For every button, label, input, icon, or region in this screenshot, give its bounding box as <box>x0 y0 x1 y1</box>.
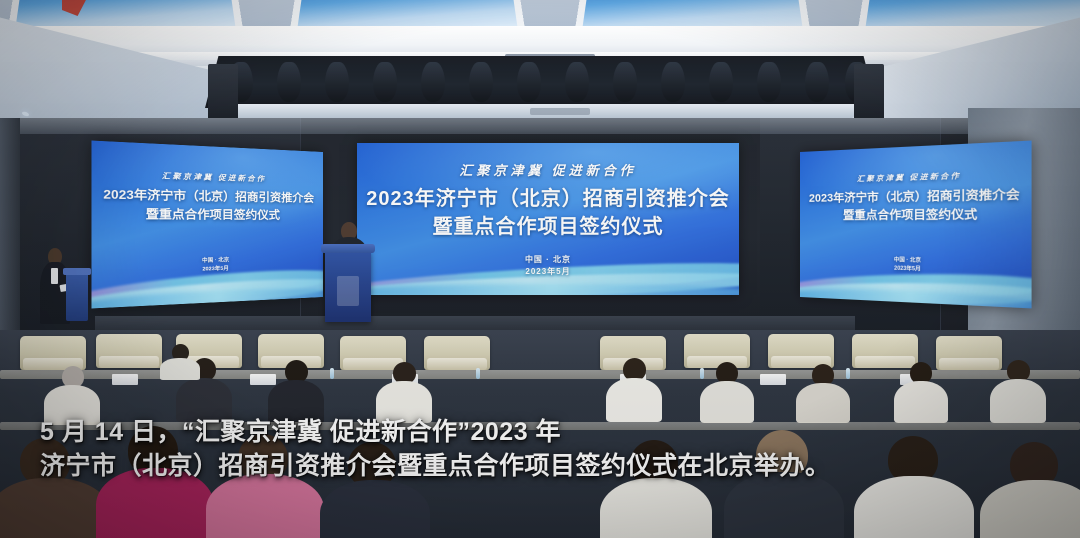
main-screen-title-line1: 2023年济宁市（北京）招商引资推介会 <box>357 187 739 212</box>
led-screen-left: 汇聚京津冀 促进新合作 2023年济宁市（北京）招商引资推介会 暨重点合作项目签… <box>91 141 323 309</box>
podium-emblem <box>337 276 359 306</box>
audience-person <box>894 362 948 422</box>
side-podium-top <box>63 268 91 275</box>
video-caption: 5 月 14 日，“汇聚京津冀 促进新合作”2023 年 济宁市（北京）招商引资… <box>40 416 1050 484</box>
audience-person <box>796 364 850 422</box>
podium-top <box>321 244 375 253</box>
lighting-truss <box>205 56 877 108</box>
main-podium <box>325 250 371 322</box>
audience-person <box>44 366 100 422</box>
wall-light-strip <box>0 118 1080 134</box>
audience-chair <box>424 336 490 370</box>
audience-person <box>700 362 754 422</box>
led-screen-right: 汇聚京津冀 促进新合作 2023年济宁市（北京）招商引资推介会 暨重点合作项目签… <box>800 141 1032 309</box>
audience-chair <box>20 336 86 370</box>
main-screen-place: 中国 · 北京 <box>357 255 739 265</box>
hanging-speaker-left <box>208 64 238 122</box>
caption-line-2: 济宁市（北京）招商引资推介会暨重点合作项目签约仪式在北京举办。 <box>40 450 1050 484</box>
led-screen-main: 汇聚京津冀 促进新合作 2023年济宁市（北京）招商引资推介会 暨重点合作项目签… <box>357 143 739 295</box>
water-bottle <box>330 368 334 379</box>
right-screen-title-line2: 暨重点合作项目签约仪式 <box>800 208 1032 224</box>
water-bottle <box>476 368 480 379</box>
caption-line-1: 5 月 14 日，“汇聚京津冀 促进新合作”2023 年 <box>40 416 1050 450</box>
main-screen-slogan: 汇聚京津冀 促进新合作 <box>357 163 739 179</box>
audience-chair <box>768 334 834 368</box>
hanging-speaker-right <box>854 64 884 122</box>
main-screen-title-line2: 暨重点合作项目签约仪式 <box>357 215 739 240</box>
audience-person <box>268 360 324 422</box>
conference-hall-photo: 汇聚京津冀 促进新合作 2023年济宁市（北京）招商引资推介会 暨重点合作项目签… <box>0 0 1080 538</box>
ceiling-vent-secondary <box>530 108 590 115</box>
audience-person <box>990 360 1046 422</box>
wall-column-left <box>0 118 20 353</box>
left-screen-title-line2: 暨重点合作项目签约仪式 <box>91 208 323 224</box>
audience-person <box>160 344 200 378</box>
audience-person <box>376 362 432 422</box>
name-placard <box>112 374 138 385</box>
side-podium <box>66 273 88 321</box>
name-placard <box>760 374 786 385</box>
audience-person <box>606 358 662 420</box>
main-screen-date: 2023年5月 <box>357 267 739 277</box>
audience-chair <box>96 334 162 368</box>
